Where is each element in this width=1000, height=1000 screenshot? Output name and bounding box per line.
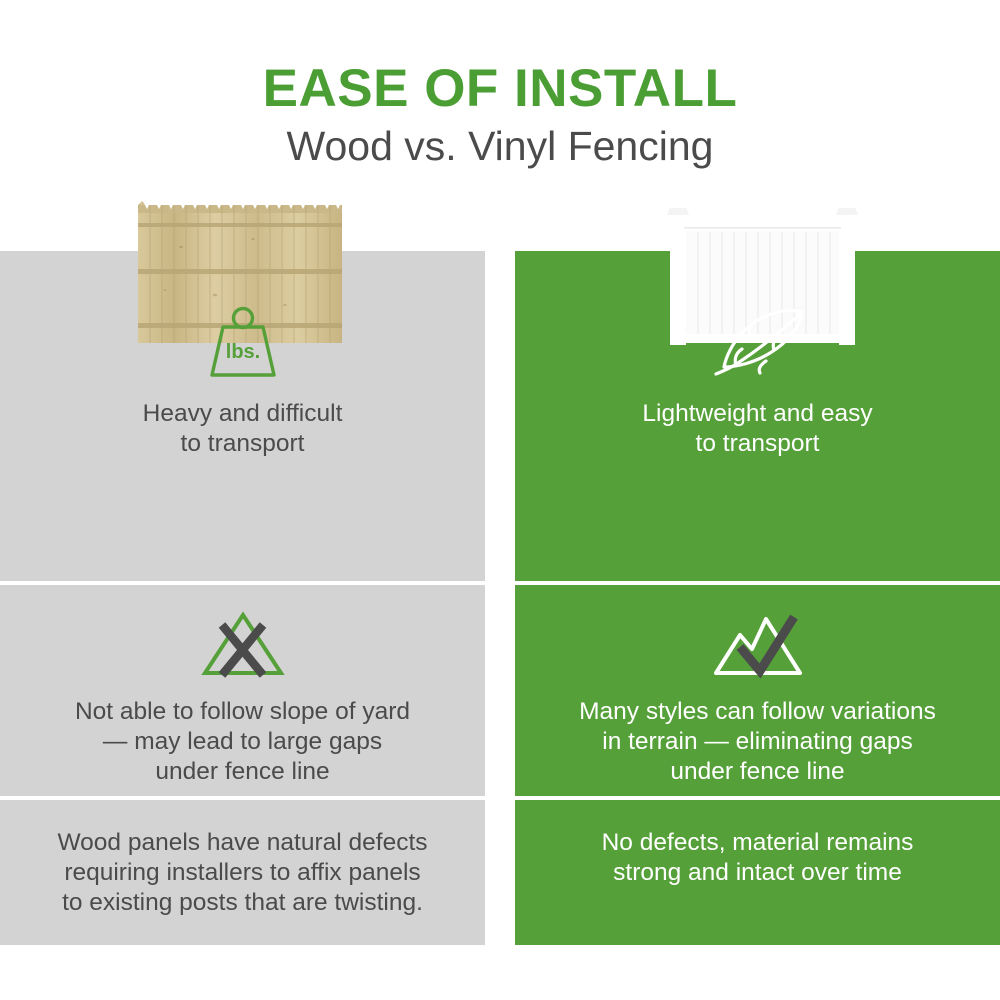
feather-icon-box bbox=[515, 251, 1000, 381]
vinyl-caption-weight: Lightweight and easy to transport bbox=[515, 399, 1000, 459]
wood-row-weight: lbs. Heavy and difficult to transport bbox=[0, 251, 485, 581]
slope-x-icon-box bbox=[0, 585, 485, 681]
terrain-check-icon bbox=[708, 605, 808, 681]
page-subtitle: Wood vs. Vinyl Fencing bbox=[0, 125, 1000, 168]
header: EASE OF INSTALL Wood vs. Vinyl Fencing bbox=[0, 0, 1000, 168]
terrain-check-icon-box bbox=[515, 585, 1000, 681]
x-mark-icon bbox=[222, 625, 263, 675]
weight-icon-label: lbs. bbox=[225, 341, 259, 363]
vinyl-rows: Lightweight and easy to transport Many s… bbox=[515, 251, 1000, 945]
vinyl-row-terrain: Many styles can follow variations in ter… bbox=[515, 585, 1000, 796]
wood-divider-2 bbox=[0, 796, 485, 800]
vinyl-row-defects: No defects, material remains strong and … bbox=[515, 800, 1000, 945]
wood-caption-slope: Not able to follow slope of yard — may l… bbox=[0, 697, 485, 787]
weight-icon-box: lbs. bbox=[0, 251, 485, 381]
vinyl-row-weight: Lightweight and easy to transport bbox=[515, 251, 1000, 581]
wood-caption-defects: Wood panels have natural defects requiri… bbox=[0, 800, 485, 918]
vinyl-caption-terrain: Many styles can follow variations in ter… bbox=[515, 697, 1000, 787]
feather-icon bbox=[706, 305, 810, 381]
weight-icon: lbs. bbox=[201, 305, 285, 381]
wood-row-slope: Not able to follow slope of yard — may l… bbox=[0, 585, 485, 796]
wood-divider-1 bbox=[0, 581, 485, 585]
slope-x-icon bbox=[197, 605, 289, 681]
vinyl-caption-defects: No defects, material remains strong and … bbox=[515, 800, 1000, 888]
vinyl-divider-2 bbox=[515, 796, 1000, 800]
wood-caption-weight: Heavy and difficult to transport bbox=[0, 399, 485, 459]
page-title: EASE OF INSTALL bbox=[0, 62, 1000, 116]
wood-rows: lbs. Heavy and difficult to transport bbox=[0, 251, 485, 945]
infographic-page: EASE OF INSTALL Wood vs. Vinyl Fencing bbox=[0, 0, 1000, 1000]
wood-row-defects: Wood panels have natural defects requiri… bbox=[0, 800, 485, 945]
vinyl-divider-1 bbox=[515, 581, 1000, 585]
comparison-columns: lbs. Heavy and difficult to transport bbox=[0, 195, 1000, 955]
